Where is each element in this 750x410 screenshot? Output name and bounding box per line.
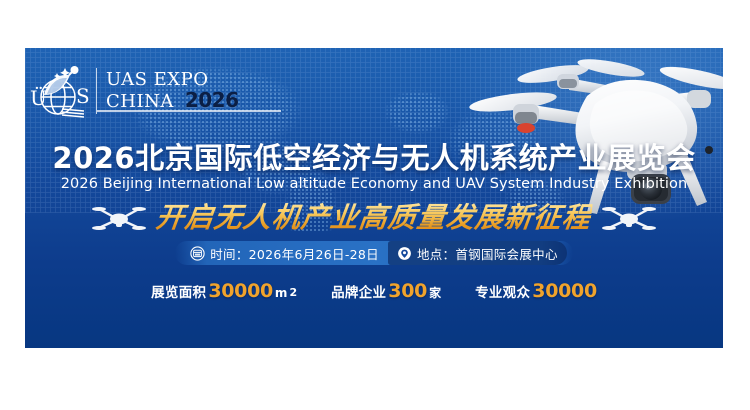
stats-row: 展览面积 30000 m 2 品牌企业 300 家 专业观众 30000 xyxy=(25,280,723,302)
drone-icon xyxy=(92,203,146,233)
stat-unit: m xyxy=(275,286,288,300)
event-venue-chip: 地点：首钢国际会展中心 xyxy=(388,241,567,265)
event-info-bar: 时间：2026年6月26日-28日 地点：首钢国际会展中心 xyxy=(25,241,723,265)
logo-underline xyxy=(97,110,281,112)
stat-number: 30000 xyxy=(532,280,597,302)
clock-icon xyxy=(190,246,205,261)
stat-label: 展览面积 xyxy=(151,281,206,301)
event-date-chip: 时间：2026年6月26日-28日 xyxy=(181,241,388,265)
event-logo: Ü S UAS EXPO CHINA 2026 xyxy=(28,59,239,123)
stat-label: 专业观众 xyxy=(475,281,530,301)
logo-year: 2026 xyxy=(185,90,239,111)
exhibition-banner: Ü S UAS EXPO CHINA 2026 2026北京国际低空经济与无人机… xyxy=(25,48,723,348)
stat-number: 30000 xyxy=(208,280,273,302)
event-venue-text: 地点：首钢国际会展中心 xyxy=(417,244,558,263)
svg-text:S: S xyxy=(76,84,90,108)
location-pin-icon xyxy=(397,246,412,261)
satellite-globe-icon: Ü S xyxy=(28,61,94,121)
event-date-text: 时间：2026年6月26日-28日 xyxy=(210,244,379,263)
stat-item: 专业观众 30000 xyxy=(475,280,597,302)
slogan-row: 开启无人机产业高质量发展新征程 xyxy=(25,198,723,238)
stat-unit-superscript: 2 xyxy=(289,286,297,299)
stat-unit: 家 xyxy=(429,284,441,301)
drone-icon xyxy=(602,203,656,233)
svg-text:Ü: Ü xyxy=(30,85,47,110)
page-title: 2026北京国际低空经济与无人机系统产业展览会 xyxy=(25,141,723,175)
slogan-text: 开启无人机产业高质量发展新征程 xyxy=(154,201,593,235)
page-subtitle: 2026 Beijing International Low altitude … xyxy=(25,174,723,194)
stat-label: 品牌企业 xyxy=(331,281,386,301)
stat-item: 展览面积 30000 m 2 xyxy=(151,280,297,302)
stat-item: 品牌企业 300 家 xyxy=(331,280,441,302)
logo-title-line1: UAS EXPO xyxy=(106,70,239,90)
stat-number: 300 xyxy=(388,280,427,302)
logo-title-line2: CHINA xyxy=(106,91,174,112)
